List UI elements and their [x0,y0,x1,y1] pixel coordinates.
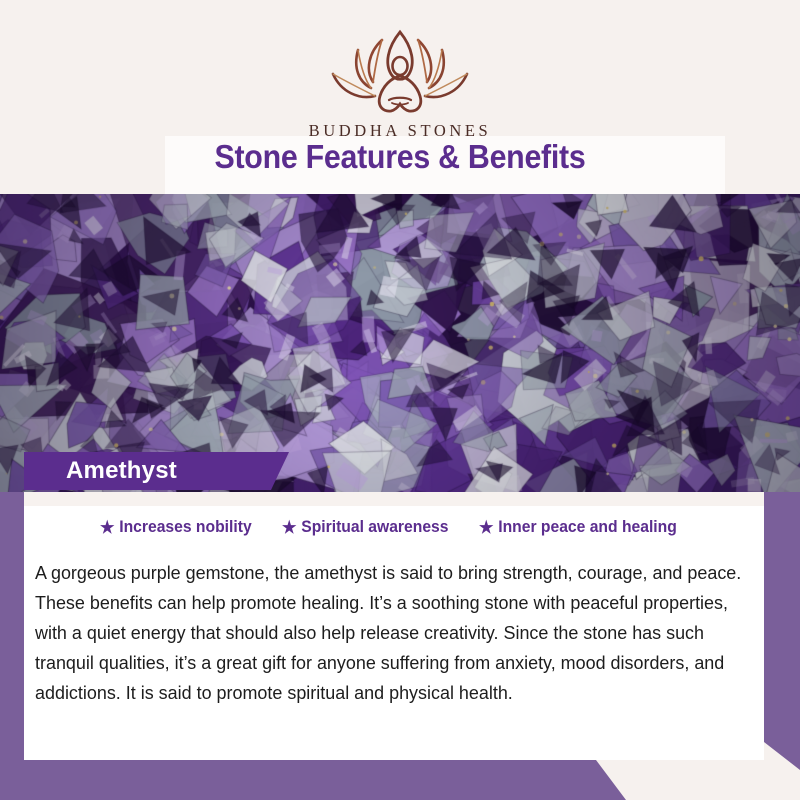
star-icon: ★ [479,519,493,536]
frame-left-bar [0,492,24,800]
stone-name-label: Amethyst [66,457,177,485]
brand-logo: BUDDHA STONES [0,24,800,141]
benefit-label: Spiritual awareness [301,518,448,537]
benefit-item-0: ★ Increases nobility [100,518,252,537]
star-icon: ★ [100,519,114,536]
benefit-item-2: ★ Inner peace and healing [479,518,677,537]
description-text: A gorgeous purple gemstone, the amethyst… [35,558,743,708]
content-top-strip [24,492,764,506]
stone-benefits-infographic: BUDDHA STONES Stone Features & Benefits … [0,0,800,800]
star-icon: ★ [282,519,296,536]
amethyst-crystal-canvas [0,194,800,492]
benefit-item-1: ★ Spiritual awareness [282,518,448,537]
benefit-label: Inner peace and healing [499,518,678,537]
frame-bottom-bar [0,760,800,800]
page-title: Stone Features & Benefits [32,138,768,176]
benefits-list: ★ Increases nobility ★ Spiritual awarene… [24,518,764,537]
benefit-label: Increases nobility [120,518,252,537]
hero-image [0,194,800,492]
lotus-meditation-figure-icon [325,24,475,119]
